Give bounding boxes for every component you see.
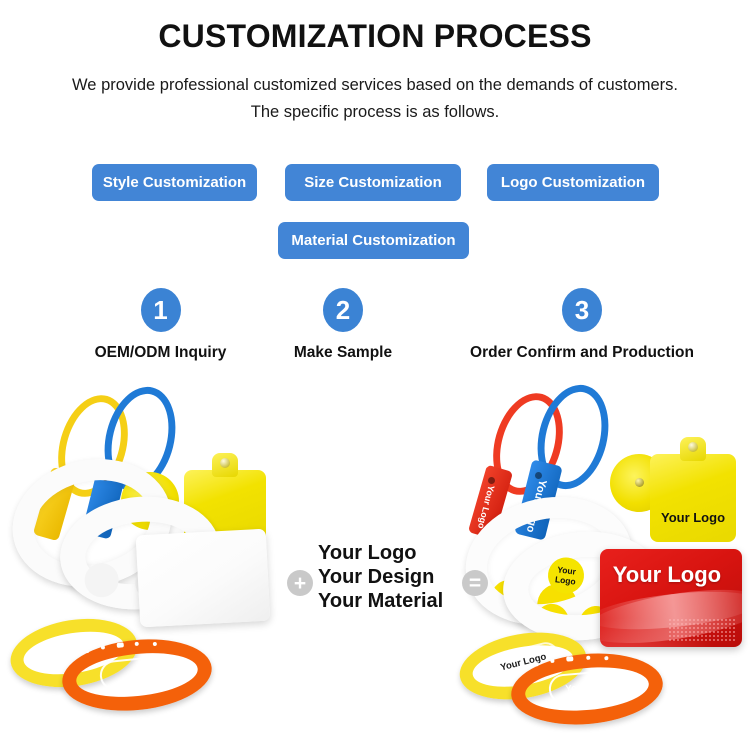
option-size-customization[interactable]: Size Customization xyxy=(285,164,461,201)
branded-red-card: Your Logo xyxy=(600,549,742,647)
step-label-1: OEM/ODM Inquiry xyxy=(78,344,243,362)
equation-line-1: Your Logo xyxy=(318,541,468,565)
red-card-logo-label: Your Logo xyxy=(613,562,721,588)
subtitle-line-2: The specific process is as follows. xyxy=(0,99,750,126)
equation-line-2: Your Design xyxy=(318,565,468,589)
ear-tag-pin xyxy=(635,478,644,487)
process-step-2: 2 Make Sample xyxy=(268,288,418,362)
equation-line-3: Your Material xyxy=(318,589,468,613)
ear-tag-neck xyxy=(212,453,238,477)
subtitle-line-1: We provide professional customized servi… xyxy=(0,72,750,99)
paper-wristband-logo-line-2: Logo xyxy=(554,574,576,586)
ear-tag-neck xyxy=(680,437,706,461)
process-step-1: 1 OEM/ODM Inquiry xyxy=(78,288,243,362)
option-logo-customization[interactable]: Logo Customization xyxy=(487,164,659,201)
option-material-customization[interactable]: Material Customization xyxy=(278,222,469,259)
step-label-3: Order Confirm and Production xyxy=(452,344,712,362)
rect-ear-tag-branded: Your Logo xyxy=(650,454,736,542)
card-dot-pattern xyxy=(668,618,736,643)
process-step-3: 3 Order Confirm and Production xyxy=(452,288,712,362)
step-number-badge-3: 3 xyxy=(562,288,602,332)
ear-tag-logo-label: Your Logo xyxy=(650,510,736,525)
customization-process-infographic: CUSTOMIZATION PROCESS We provide profess… xyxy=(0,0,750,750)
blank-white-card xyxy=(136,529,271,628)
blank-products-group xyxy=(0,382,300,750)
step-label-2: Make Sample xyxy=(268,344,418,362)
page-title: CUSTOMIZATION PROCESS xyxy=(0,18,750,55)
branded-products-group: Your Logo Your Logo Your Logo xyxy=(455,382,750,750)
option-style-customization[interactable]: Style Customization xyxy=(92,164,257,201)
step-number-badge-2: 2 xyxy=(323,288,363,332)
plus-operator-icon: + xyxy=(287,570,313,596)
step-number-badge-1: 1 xyxy=(141,288,181,332)
page-subtitle: We provide professional customized servi… xyxy=(0,72,750,126)
customization-equation-text: Your Logo Your Design Your Material xyxy=(318,541,468,613)
